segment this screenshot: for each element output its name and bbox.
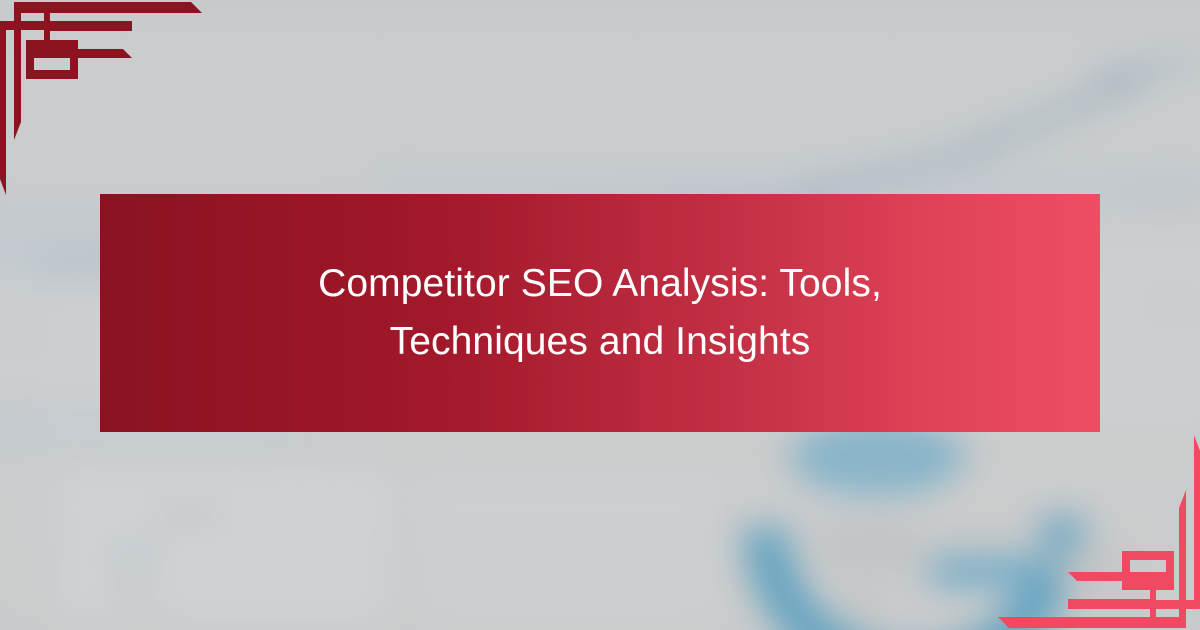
og-image-card: Competitor SEO Analysis: Tools, Techniqu… xyxy=(0,0,1200,630)
page-title: Competitor SEO Analysis: Tools, Techniqu… xyxy=(220,255,980,370)
title-banner: Competitor SEO Analysis: Tools, Techniqu… xyxy=(100,194,1100,432)
